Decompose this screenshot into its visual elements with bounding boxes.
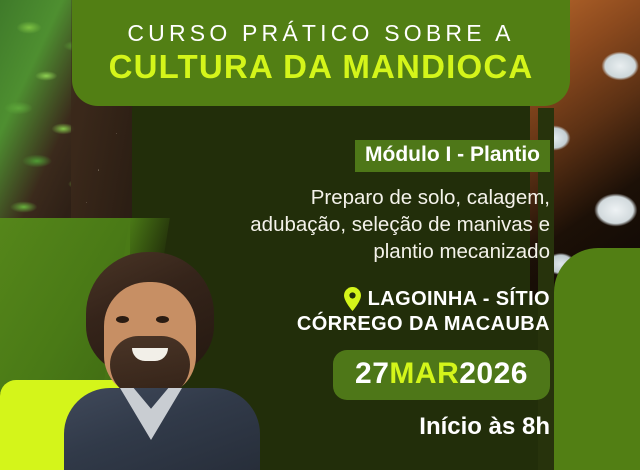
poster: CURSO PRÁTICO SOBRE A CULTURA DA MANDIOC…	[0, 0, 640, 470]
location-line-1: LAGOINHA - SÍTIO	[368, 287, 550, 311]
portrait-eye-left	[116, 316, 129, 323]
location-block: LAGOINHA - SÍTIO CÓRREGO DA MACAUBA	[238, 287, 550, 336]
date-day: 27	[355, 357, 389, 390]
date-pill: 27MAR2026	[333, 350, 550, 400]
portrait-eye-right	[156, 316, 169, 323]
content-column: Módulo I - Plantio Preparo de solo, cala…	[238, 140, 550, 440]
instructor-portrait-photo	[58, 240, 263, 470]
header-title: CULTURA DA MANDIOCA	[109, 49, 534, 85]
header-kicker: CURSO PRÁTICO SOBRE A	[127, 21, 514, 46]
location-line-2: CÓRREGO DA MACAUBA	[238, 312, 550, 336]
module-badge: Módulo I - Plantio	[355, 140, 550, 172]
start-time: Início às 8h	[238, 414, 550, 440]
date-year: 2026	[459, 357, 528, 390]
date-month: MAR	[389, 357, 459, 390]
map-pin-icon	[344, 287, 361, 311]
right-olive-panel	[554, 248, 640, 470]
module-description: Preparo de solo, calagem, adubação, sele…	[238, 184, 550, 265]
header-banner: CURSO PRÁTICO SOBRE A CULTURA DA MANDIOC…	[72, 0, 570, 106]
location-line-1-row: LAGOINHA - SÍTIO	[238, 287, 550, 311]
